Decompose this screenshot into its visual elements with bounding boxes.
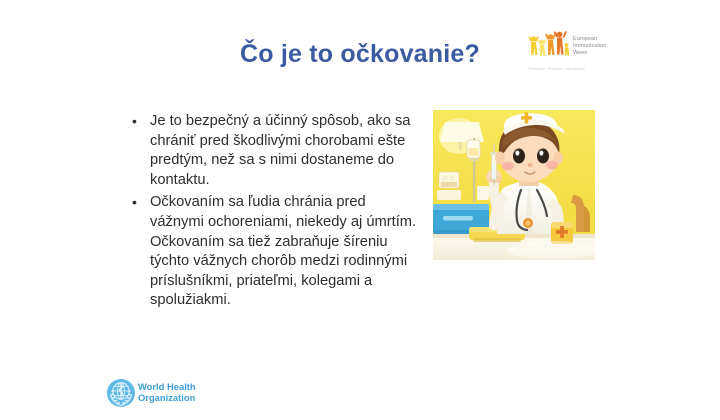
bullet-marker: • — [132, 112, 137, 132]
list-item: • Je to bezpečný a účinný spôsob, ako sa… — [128, 112, 418, 190]
bullet-list: • Je to bezpečný a účinný spôsob, ako sa… — [128, 112, 418, 314]
who-wordmark-text: World Health Organization — [138, 381, 196, 404]
world-health-organization-logo: World Health Organization — [106, 378, 202, 408]
list-item-text: Je to bezpečný a účinný spôsob, ako sa c… — [150, 113, 410, 188]
eiw-logo-tagline: Prevent. Protect. Immunize. — [529, 66, 586, 71]
slide-canvas: Čo je to očkovanie? — [0, 0, 720, 420]
european-immunization-week-logo: European Immunization Week Prevent. Prot… — [523, 24, 635, 76]
list-item-text: Očkovaním sa ľudia chránia pred vážnymi … — [150, 194, 416, 308]
bullet-marker: • — [132, 193, 137, 213]
cartoon-doctor-with-syringe — [433, 110, 595, 260]
who-emblem-icon — [106, 378, 136, 408]
eiw-people-icon — [527, 28, 569, 64]
eiw-logo-text: European Immunization Week — [573, 36, 606, 58]
list-item: • Očkovaním sa ľudia chránia pred vážnym… — [128, 193, 418, 311]
